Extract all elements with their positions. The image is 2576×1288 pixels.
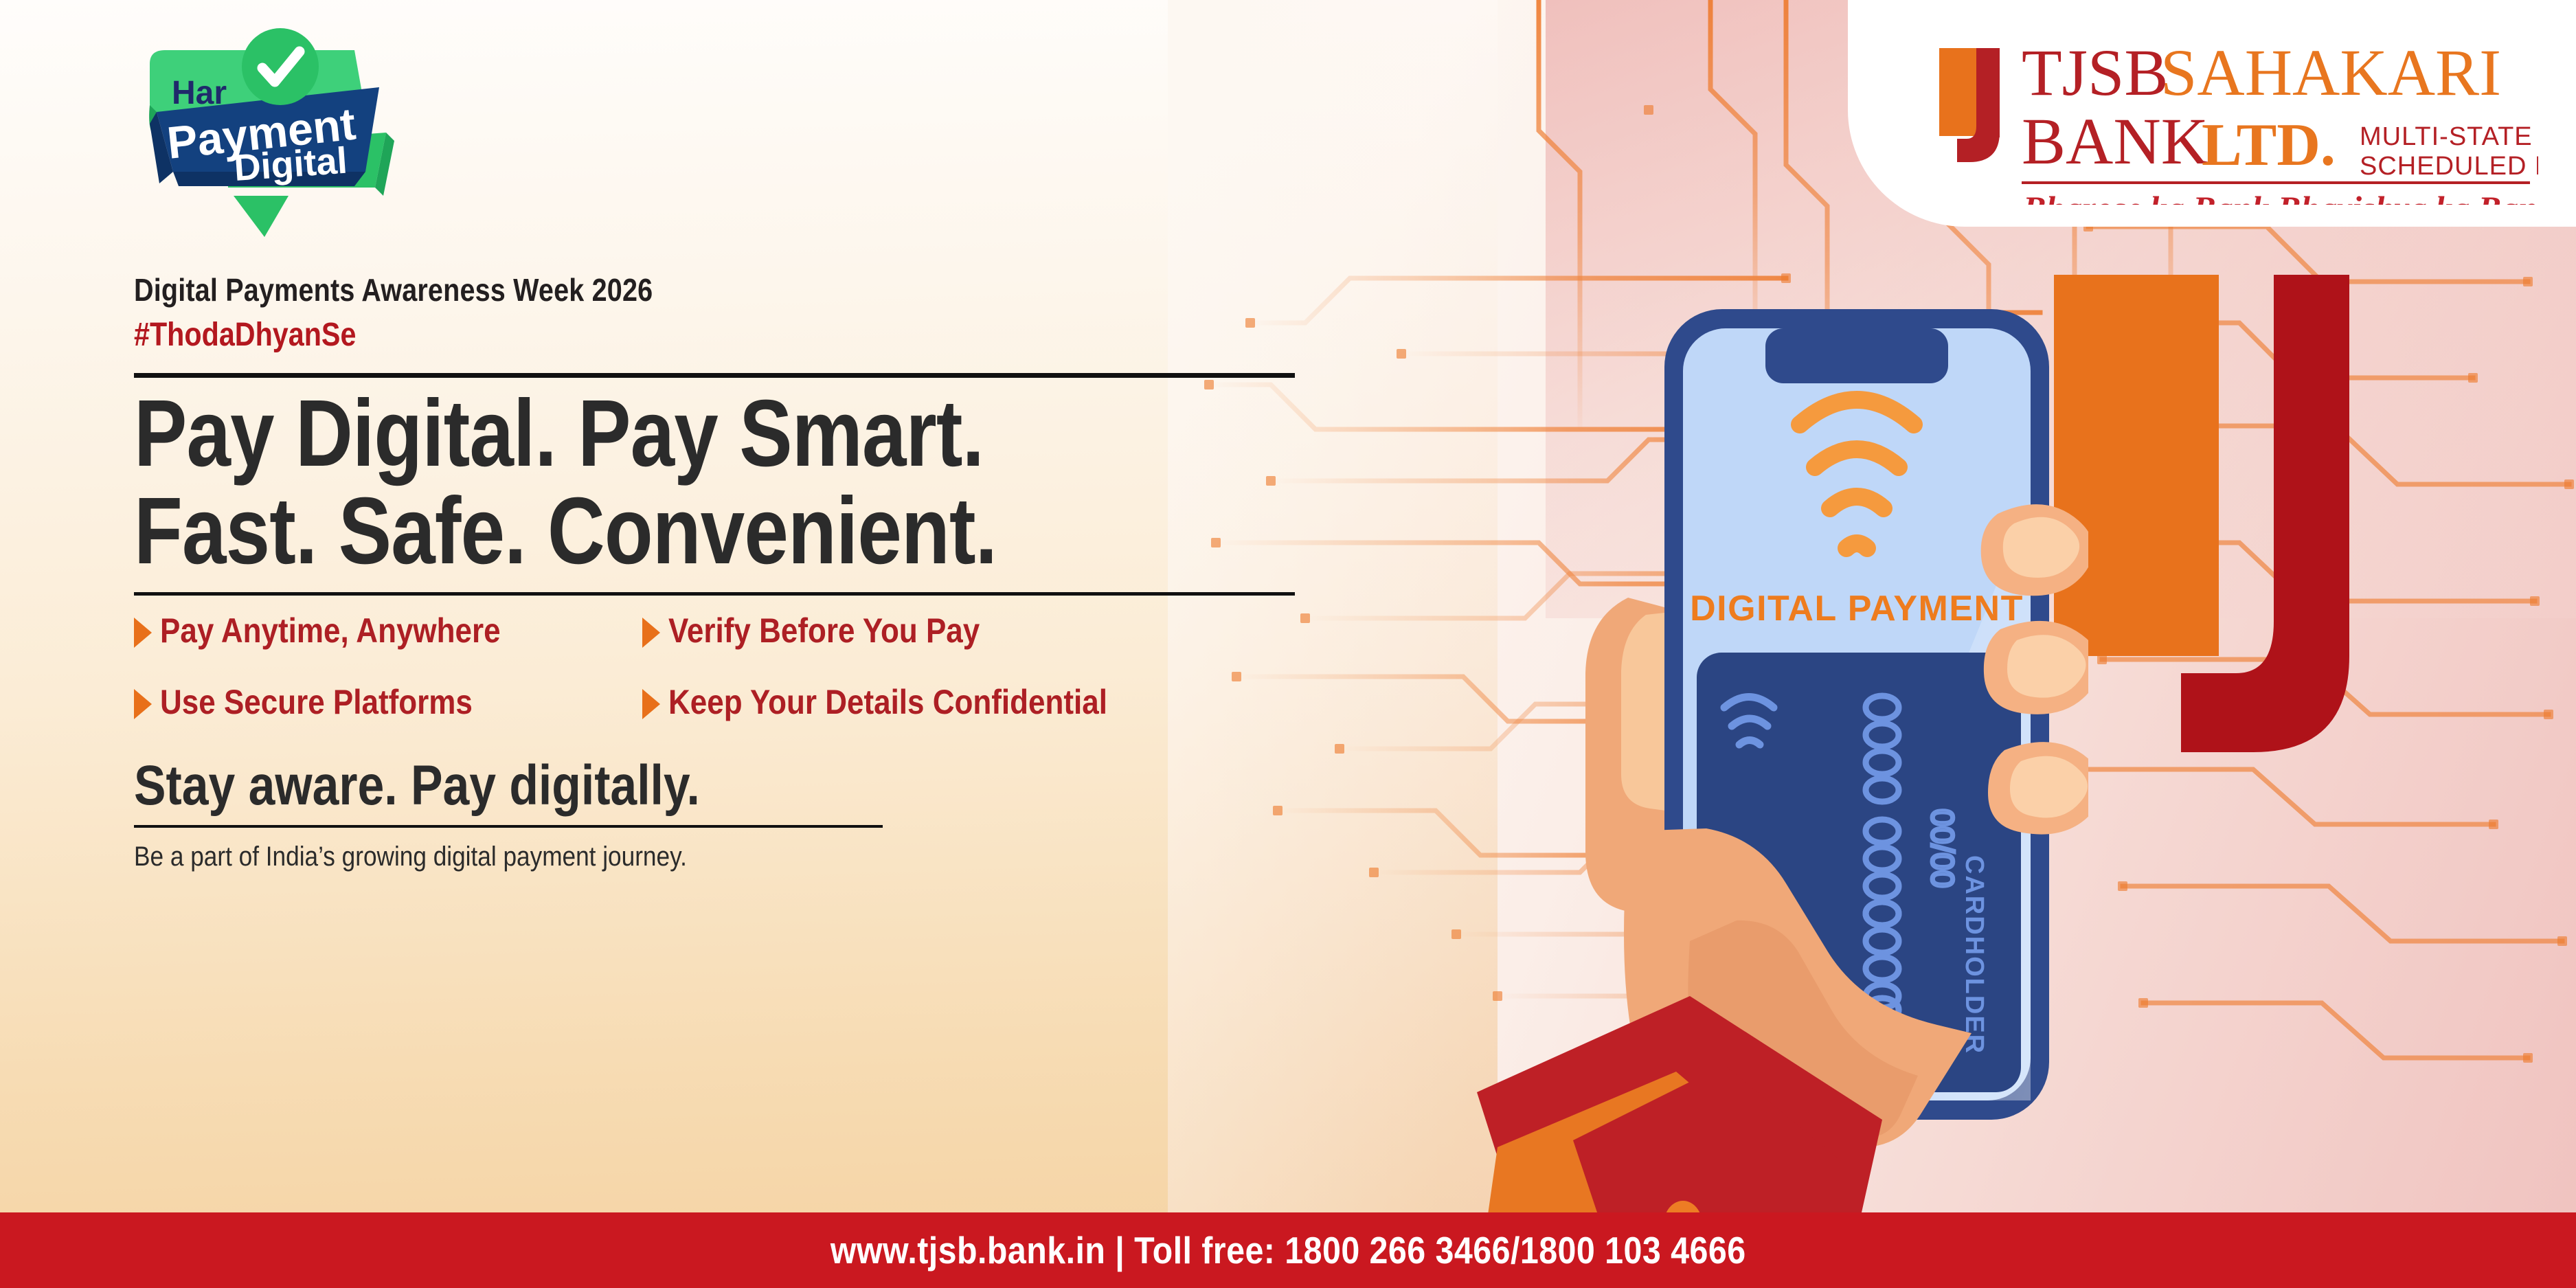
logo-tjsb: TJSB [2022, 36, 2168, 109]
ribbon-line1: Har [172, 75, 227, 111]
benefit-label: Pay Anytime, Anywhere [160, 613, 501, 648]
benefits-row-2: Use Secure Platforms Keep Your Details C… [134, 685, 1302, 719]
card-holder-label: CARDHOLDER [1960, 855, 1989, 1054]
logo-bank: BANK [2022, 104, 2208, 178]
logo-tagline: Bharose ka Bank Bhavishya ka Bank [2022, 189, 2538, 205]
divider-middle [134, 592, 1295, 596]
headline-line-1: Pay Digital. Pay Smart. [134, 385, 1115, 482]
campaign-hashtag: #ThodaDhyanSe [134, 315, 1138, 355]
chevron-right-icon [134, 689, 152, 719]
benefit-item: Keep Your Details Confidential [642, 685, 1167, 719]
benefit-label: Keep Your Details Confidential [668, 685, 1107, 719]
chevron-right-icon [642, 689, 660, 719]
headline-line-2: Fast. Safe. Convenient. [134, 482, 1115, 580]
benefit-item: Use Secure Platforms [134, 685, 642, 719]
check-icon [242, 28, 319, 105]
sub-note: Be a part of India’s growing digital pay… [134, 840, 1162, 873]
benefit-item: Verify Before You Pay [642, 613, 1022, 648]
ribbon-line3: Digital [233, 140, 349, 189]
logo-ltd: LTD. [2202, 112, 2336, 179]
logo-qualifier-line1: MULTI-STATE [2360, 122, 2533, 151]
benefits-row-1: Pay Anytime, Anywhere Verify Before You … [134, 613, 1302, 648]
logo-sahakari: SAHAKARI [2160, 36, 2501, 109]
banner-root: DIGITAL PAYMENT [0, 0, 2576, 1288]
divider-bottom [134, 825, 883, 828]
benefit-label: Verify Before You Pay [668, 613, 980, 648]
benefits-list: Pay Anytime, Anywhere Verify Before You … [134, 613, 1302, 719]
card-expiry: 00/00 [1925, 809, 1961, 888]
closing-statement: Stay aware. Pay digitally. [134, 756, 1127, 815]
benefit-label: Use Secure Platforms [160, 685, 473, 719]
logo-divider [2022, 181, 2530, 184]
fingers [1981, 504, 2088, 834]
logo-monogram-icon [1939, 48, 2000, 162]
chevron-right-icon [642, 618, 660, 648]
footer-contact-text[interactable]: www.tjsb.bank.in | Toll free: 1800 266 3… [831, 1228, 1746, 1272]
footer-bar: www.tjsb.bank.in | Toll free: 1800 266 3… [0, 1212, 2576, 1288]
benefit-item: Pay Anytime, Anywhere [134, 613, 642, 648]
campaign-kicker: Digital Payments Awareness Week 2026 [134, 271, 1138, 308]
hand-holding-phone-illustration: DIGITAL PAYMENT [1401, 227, 2088, 1243]
divider-top [134, 373, 1295, 378]
har-payment-digital-logo: Har Payment Digital [124, 24, 412, 237]
tjsb-monogram-watermark [2047, 271, 2528, 876]
bank-logo-panel: TJSB SAHAKARI BANK LTD. MULTI-STATE SCHE… [1848, 0, 2576, 227]
chevron-right-icon [134, 618, 152, 648]
main-content: Digital Payments Awareness Week 2026 #Th… [134, 271, 1302, 873]
tjsb-bank-logo: TJSB SAHAKARI BANK LTD. MULTI-STATE SCHE… [1934, 19, 2538, 205]
logo-qualifier-line2: SCHEDULED BANK [2360, 152, 2538, 181]
screen-label: DIGITAL PAYMENT [1690, 589, 2024, 629]
